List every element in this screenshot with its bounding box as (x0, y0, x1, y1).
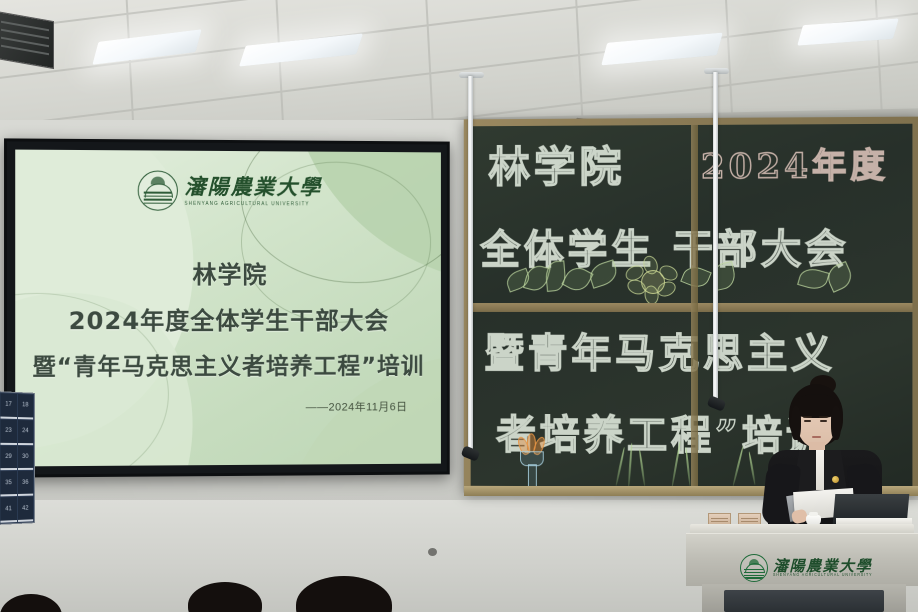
air-vent-icon (0, 11, 54, 69)
chalk-line-1: 林学院 (488, 133, 625, 194)
slide-surface: 瀋陽農業大學 SHENYANG AGRICULTURAL UNIVERSITY … (15, 150, 441, 467)
university-crest-icon (137, 170, 177, 210)
number-cell: 30 (17, 446, 33, 471)
eyebrow (803, 416, 812, 418)
chalk-line-2: 2024年度 (701, 138, 889, 188)
slide-title-line-3: 暨“青年马克思主义者培养工程”培训 (15, 347, 441, 382)
blackboard-divider (691, 125, 698, 487)
slide-title-block: 林学院 2024年度全体学生干部大会 暨“青年马克思主义者培养工程”培训 (15, 255, 441, 382)
number-cell: 17 (0, 393, 16, 419)
hanging-pole (468, 76, 473, 450)
number-cell: 41 (0, 497, 16, 523)
logo-chinese-name: 瀋陽農業大學 (184, 176, 322, 198)
logo-english-name: SHENYANG AGRICULTURAL UNIVERSITY (184, 201, 322, 207)
number-cell: 36 (17, 471, 33, 496)
hair-side (831, 406, 841, 440)
slide-logo: 瀋陽農業大學 SHENYANG AGRICULTURAL UNIVERSITY (15, 170, 441, 212)
lapel-pin-icon (832, 476, 839, 483)
number-cell: 35 (0, 471, 16, 496)
podium-front-panel: 瀋陽農業大學 SHENYANG AGRICULTURAL UNIVERSITY (686, 533, 918, 586)
podium-logo-english: SHENYANG AGRICULTURAL UNIVERSITY (773, 573, 872, 578)
chalk-drawing-torch (514, 434, 548, 488)
podium-screen-slot (724, 590, 884, 612)
podium-logo: 瀋陽農業大學 SHENYANG AGRICULTURAL UNIVERSITY (740, 554, 872, 582)
mouth (812, 436, 821, 438)
slide-date: ——2024年11月6日 (306, 398, 408, 414)
wall-mark (428, 548, 437, 556)
slide-title-line-1: 林学院 (15, 255, 441, 291)
number-cell: 42 (17, 497, 33, 522)
number-cell: 18 (17, 394, 33, 419)
chalk-drawing-sunflower (625, 260, 677, 302)
hair-side (791, 406, 801, 440)
classroom-scene: 瀋陽農業大學 SHENYANG AGRICULTURAL UNIVERSITY … (0, 0, 918, 612)
slide-title-line-2: 2024年度全体学生干部大会 (15, 301, 441, 336)
wall-number-grid[interactable]: 17 18 23 24 29 30 35 36 41 42 (0, 391, 35, 525)
eyebrow (819, 416, 828, 418)
number-cell: 24 (17, 420, 33, 445)
podium: 瀋陽農業大學 SHENYANG AGRICULTURAL UNIVERSITY (686, 524, 918, 612)
projection-screen: 瀋陽農業大學 SHENYANG AGRICULTURAL UNIVERSITY … (4, 138, 450, 477)
chalk-line-4: 暨青年马克思主义 (484, 321, 835, 379)
hanging-pole (713, 72, 718, 402)
number-cell: 29 (0, 445, 16, 470)
university-crest-icon (740, 554, 768, 582)
number-cell: 23 (0, 419, 16, 444)
